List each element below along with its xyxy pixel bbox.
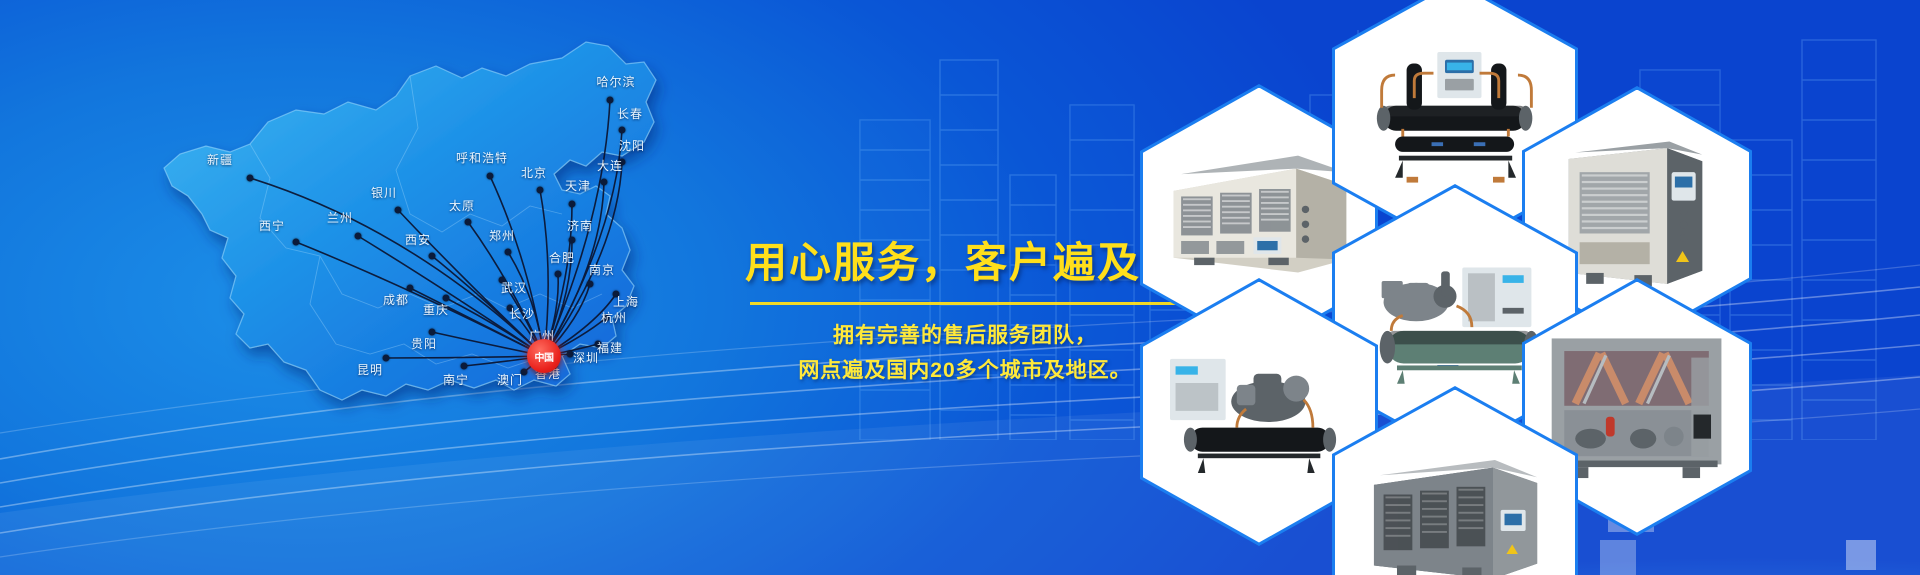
city-label: 太原: [449, 200, 475, 212]
city-label: 杭州: [601, 312, 627, 324]
city-label: 重庆: [423, 304, 449, 316]
city-dot[interactable]: [355, 233, 362, 240]
city-dot[interactable]: [461, 363, 468, 370]
city-label: 呼和浩特: [456, 152, 508, 164]
city-label: 银川: [371, 187, 397, 199]
city-label: 上海: [613, 296, 639, 308]
city-dot[interactable]: [537, 187, 544, 194]
city-label: 南京: [589, 264, 615, 276]
city-dot[interactable]: [383, 355, 390, 362]
city-label: 武汉: [501, 282, 527, 294]
subtitle-line-1: 拥有完善的售后服务团队，: [745, 319, 1185, 354]
headline: 用心服务，客户遍及全国: [745, 240, 1185, 286]
city-dot[interactable]: [429, 329, 436, 336]
city-dot[interactable]: [293, 239, 300, 246]
city-dot[interactable]: [487, 173, 494, 180]
hub-marker[interactable]: 中国: [527, 339, 561, 373]
city-label: 兰州: [327, 212, 353, 224]
city-label: 北京: [521, 167, 547, 179]
city-label: 贵阳: [411, 338, 437, 350]
copy-block: 用心服务，客户遍及全国 拥有完善的售后服务团队， 网点遍及国内20多个城市及地区…: [745, 240, 1185, 388]
city-label: 南宁: [443, 374, 469, 386]
city-dot[interactable]: [601, 179, 608, 186]
city-label: 成都: [383, 294, 409, 306]
city-label: 长沙: [509, 308, 535, 320]
hub-label: 中国: [535, 349, 554, 364]
city-dot[interactable]: [443, 295, 450, 302]
city-dot[interactable]: [465, 219, 472, 226]
city-dot[interactable]: [505, 249, 512, 256]
city-label: 沈阳: [619, 140, 645, 152]
city-dot[interactable]: [569, 201, 576, 208]
city-label: 西安: [405, 234, 431, 246]
city-dot[interactable]: [407, 285, 414, 292]
banner-root: 新疆西宁兰州银川呼和浩特北京天津太原西安郑州哈尔滨长春沈阳大连济南合肥南京上海杭…: [0, 0, 1920, 575]
city-dot[interactable]: [395, 207, 402, 214]
city-dot[interactable]: [607, 97, 614, 104]
city-label: 长春: [617, 108, 643, 120]
city-dot[interactable]: [429, 253, 436, 260]
city-label: 天津: [565, 180, 591, 192]
city-label: 合肥: [549, 252, 575, 264]
decor-square: [1846, 540, 1876, 570]
city-label: 大连: [597, 160, 623, 172]
city-label: 济南: [567, 220, 593, 232]
city-dot[interactable]: [587, 281, 594, 288]
city-dot[interactable]: [247, 175, 254, 182]
city-label: 西宁: [259, 220, 285, 232]
subtitle-line-2: 网点遍及国内20多个城市及地区。: [745, 354, 1185, 389]
city-dot[interactable]: [619, 127, 626, 134]
condensing-unit-icon: [1157, 310, 1361, 514]
city-label: 新疆: [207, 154, 233, 166]
city-label: 昆明: [357, 364, 383, 376]
city-label: 福建: [597, 342, 623, 354]
city-label: 澳门: [497, 374, 523, 386]
product-hexagon-cluster: [1150, 0, 1770, 575]
china-map: 新疆西宁兰州银川呼和浩特北京天津太原西安郑州哈尔滨长春沈阳大连济南合肥南京上海杭…: [110, 18, 750, 438]
city-dot[interactable]: [569, 237, 576, 244]
city-label: 郑州: [489, 230, 515, 242]
divider-rule: [750, 302, 1180, 305]
city-label: 深圳: [573, 352, 599, 364]
cabinet-chiller-icon: [1349, 419, 1560, 575]
china-map-shape: [110, 18, 750, 438]
city-label: 哈尔滨: [596, 76, 635, 88]
city-dot[interactable]: [555, 271, 562, 278]
